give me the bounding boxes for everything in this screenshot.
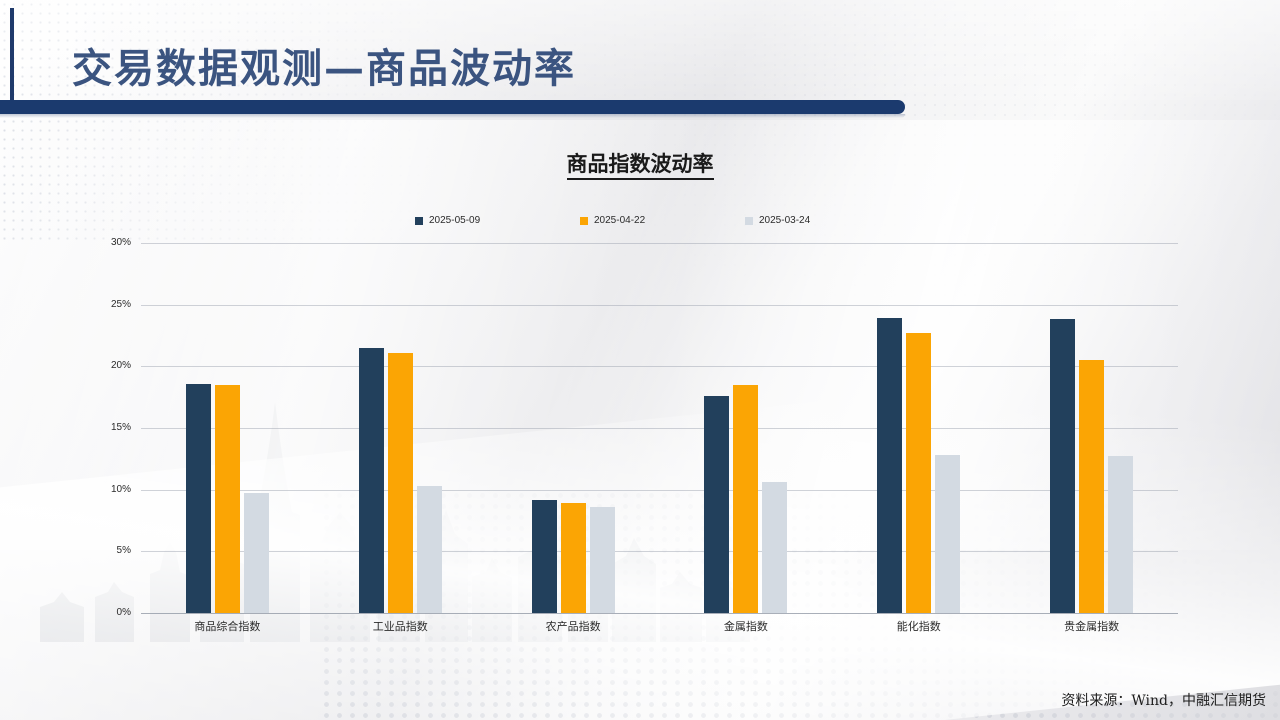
gridline <box>141 243 1178 244</box>
y-axis-tick-label: 30% <box>101 237 131 248</box>
title-underbar-shadow <box>0 114 905 118</box>
bar-4-1 <box>906 333 931 613</box>
legend-label: 2025-03-24 <box>759 215 810 226</box>
chart-legend: 2025-05-092025-04-222025-03-24 <box>415 215 875 231</box>
bar-4-0 <box>877 318 902 613</box>
gridline <box>141 490 1178 491</box>
legend-swatch-icon <box>580 217 588 225</box>
title-accent-rail <box>10 8 14 114</box>
gridline <box>141 551 1178 552</box>
legend-item-1[interactable]: 2025-04-22 <box>580 215 645 226</box>
legend-label: 2025-04-22 <box>594 215 645 226</box>
y-axis-tick-label: 20% <box>101 360 131 371</box>
y-axis-tick-label: 5% <box>101 545 131 556</box>
bar-5-1 <box>1079 360 1104 613</box>
legend-swatch-icon <box>745 217 753 225</box>
gridline <box>141 305 1178 306</box>
title-underbar <box>0 100 905 114</box>
bar-0-2 <box>244 493 269 613</box>
y-axis-tick-label: 10% <box>101 484 131 495</box>
x-axis-tick-label: 金属指数 <box>724 618 768 634</box>
chart-title-text: 商品指数波动率 <box>567 151 714 180</box>
chart-title: 商品指数波动率 <box>0 148 1280 178</box>
x-axis-tick-label: 农产品指数 <box>546 618 601 634</box>
bar-1-2 <box>417 486 442 613</box>
bar-5-0 <box>1050 319 1075 613</box>
y-axis-tick-label: 25% <box>101 299 131 310</box>
x-axis-tick-label: 能化指数 <box>897 618 941 634</box>
gridline <box>141 428 1178 429</box>
bar-3-1 <box>733 385 758 613</box>
bar-5-2 <box>1108 456 1133 613</box>
bar-2-1 <box>561 503 586 613</box>
bar-2-0 <box>532 500 557 613</box>
legend-swatch-icon <box>415 217 423 225</box>
bar-0-1 <box>215 385 240 613</box>
bar-3-0 <box>704 396 729 613</box>
page-title: 交易数据观测—商品波动率 <box>72 36 576 94</box>
x-axis-tick-label: 商品综合指数 <box>194 618 260 634</box>
y-axis-tick-label: 0% <box>101 607 131 618</box>
legend-label: 2025-05-09 <box>429 215 480 226</box>
x-axis-tick-label: 工业品指数 <box>373 618 428 634</box>
chart-plot-area <box>141 243 1178 613</box>
bar-0-0 <box>186 384 211 613</box>
y-axis-tick-label: 15% <box>101 422 131 433</box>
slide-canvas: 交易数据观测—商品波动率 商品指数波动率 2025-05-092025-04-2… <box>0 0 1280 720</box>
legend-item-2[interactable]: 2025-03-24 <box>745 215 810 226</box>
bar-4-2 <box>935 455 960 613</box>
bar-2-2 <box>590 507 615 613</box>
legend-item-0[interactable]: 2025-05-09 <box>415 215 480 226</box>
bar-1-0 <box>359 348 384 613</box>
x-axis-tick-label: 贵金属指数 <box>1064 618 1119 634</box>
gridline <box>141 613 1178 614</box>
bar-3-2 <box>762 482 787 613</box>
source-note: 资料来源：Wind，中融汇信期货 <box>1061 690 1266 710</box>
bar-1-1 <box>388 353 413 613</box>
gridline <box>141 366 1178 367</box>
